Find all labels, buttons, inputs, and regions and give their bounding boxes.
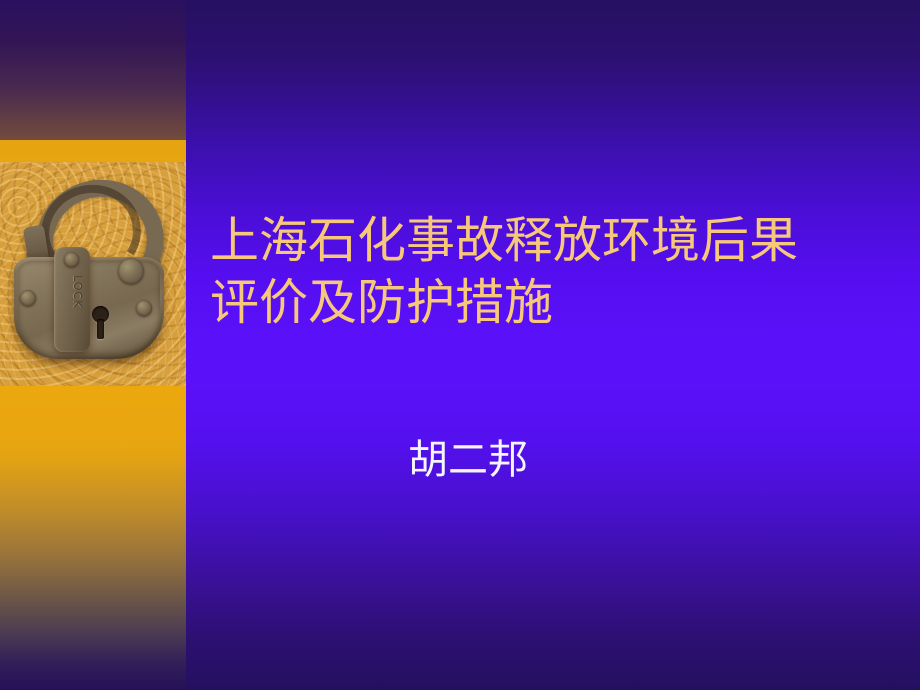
slide-subtitle-author: 胡二邦 xyxy=(408,434,528,486)
keyhole-slot xyxy=(97,319,104,339)
padlock-hasp-label: LOCK xyxy=(60,275,84,337)
padlock-rivet xyxy=(64,252,79,267)
slide-title: 上海石化事故释放环境后果 评价及防护措施 xyxy=(210,210,900,334)
padlock-rivet xyxy=(20,290,36,306)
padlock-rivet xyxy=(118,258,144,284)
sidebar-decorative-band: LOCK xyxy=(0,0,186,690)
padlock-rivet xyxy=(136,300,152,316)
padlock-photo: LOCK xyxy=(0,162,186,386)
presentation-slide: LOCK 上海石化事故释放环境后果 评价及防护措施 胡二邦 xyxy=(0,0,920,690)
padlock-keyhole-icon xyxy=(92,306,109,339)
